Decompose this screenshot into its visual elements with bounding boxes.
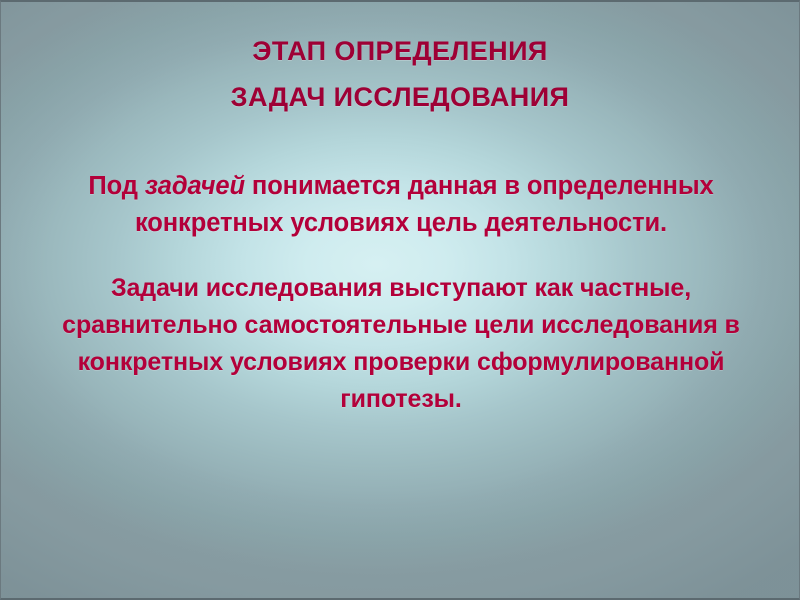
slide-body: Под задачей понимается данная в определе…: [15, 168, 787, 418]
body-paragraph-1: Под задачей понимается данная в определе…: [15, 168, 787, 242]
title-line-1: ЭТАП ОПРЕДЕЛЕНИЯ: [60, 28, 740, 74]
body-paragraph-2: Задачи исследования выступают как частны…: [15, 270, 787, 418]
presentation-slide: ЭТАП ОПРЕДЕЛЕНИЯ ЗАДАЧ ИССЛЕДОВАНИЯ Под …: [0, 0, 800, 600]
paragraph-1-lead-text: Под: [88, 172, 144, 200]
slide-title: ЭТАП ОПРЕДЕЛЕНИЯ ЗАДАЧ ИССЛЕДОВАНИЯ: [60, 28, 740, 120]
title-line-2: ЗАДАЧ ИССЛЕДОВАНИЯ: [60, 74, 740, 120]
paragraph-1-italic-term: задачей: [145, 172, 245, 200]
slide-content: ЭТАП ОПРЕДЕЛЕНИЯ ЗАДАЧ ИССЛЕДОВАНИЯ Под …: [1, 2, 799, 598]
